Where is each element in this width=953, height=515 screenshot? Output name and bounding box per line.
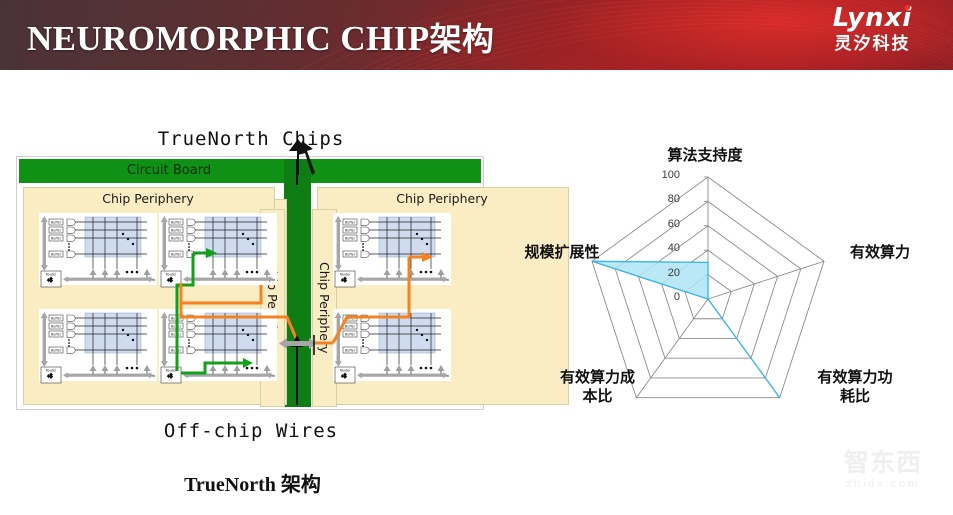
circuit-board-diagram: Circuit Board Chip Periphery Chip Periph… bbox=[16, 156, 484, 410]
radar-label-right: 有效算力 bbox=[825, 243, 935, 262]
radar-tick-60: 60 bbox=[640, 218, 680, 230]
figure-caption-cjk: 架构 bbox=[281, 472, 321, 496]
radar-tick-0: 0 bbox=[640, 291, 680, 303]
radar-label-left: 规模扩展性 bbox=[502, 243, 622, 262]
radar-chart: 100806040200 算法支持度 有效算力 有效算力功耗比 有效算力成本比 … bbox=[500, 130, 953, 440]
page-title-cjk: 架构 bbox=[429, 20, 494, 58]
radar-label-bottom-right: 有效算力功耗比 bbox=[790, 368, 920, 406]
watermark-mark: 智东西 bbox=[827, 449, 939, 477]
brand-logo-wordmark: Lynxi bbox=[833, 4, 913, 32]
truenorth-figure: TrueNorth Chips Circuit Board Chip Perip… bbox=[16, 128, 486, 458]
watermark-url: zhidx.com bbox=[827, 477, 939, 491]
figure-top-label: TrueNorth Chips bbox=[16, 128, 486, 150]
figure-caption-latin: TrueNorth bbox=[184, 474, 281, 496]
brand-logo-cn: 灵汐科技 bbox=[810, 33, 935, 55]
truenorth-chip-pointer-arrows bbox=[265, 139, 345, 175]
radar-tick-80: 80 bbox=[640, 193, 680, 205]
figure-caption: TrueNorth 架构 bbox=[0, 468, 505, 497]
figure-bottom-label: Off-chip Wires bbox=[16, 420, 486, 442]
brand-logo: Lynxi 灵汐科技 bbox=[810, 4, 935, 66]
off-chip-wire-arrows bbox=[291, 159, 303, 405]
page-title: NEUROMORPHIC CHIP架构 bbox=[27, 14, 494, 60]
page-header: NEUROMORPHIC CHIP架构 Lynxi 灵汐科技 bbox=[0, 0, 953, 70]
brand-logo-text: Lynxi bbox=[833, 3, 913, 33]
radar-tick-40: 40 bbox=[640, 242, 680, 254]
page-title-latin: NEUROMORPHIC CHIP bbox=[27, 19, 429, 58]
chip-core-array: Buffer Buffer Buffer Buffer bbox=[17, 157, 483, 409]
site-watermark: 智东西 zhidx.com bbox=[827, 449, 939, 503]
radar-label-bottom-left: 有效算力成本比 bbox=[530, 368, 665, 406]
radar-tick-20: 20 bbox=[640, 267, 680, 279]
radar-label-top: 算法支持度 bbox=[625, 146, 785, 165]
radar-tick-100: 100 bbox=[640, 169, 680, 181]
